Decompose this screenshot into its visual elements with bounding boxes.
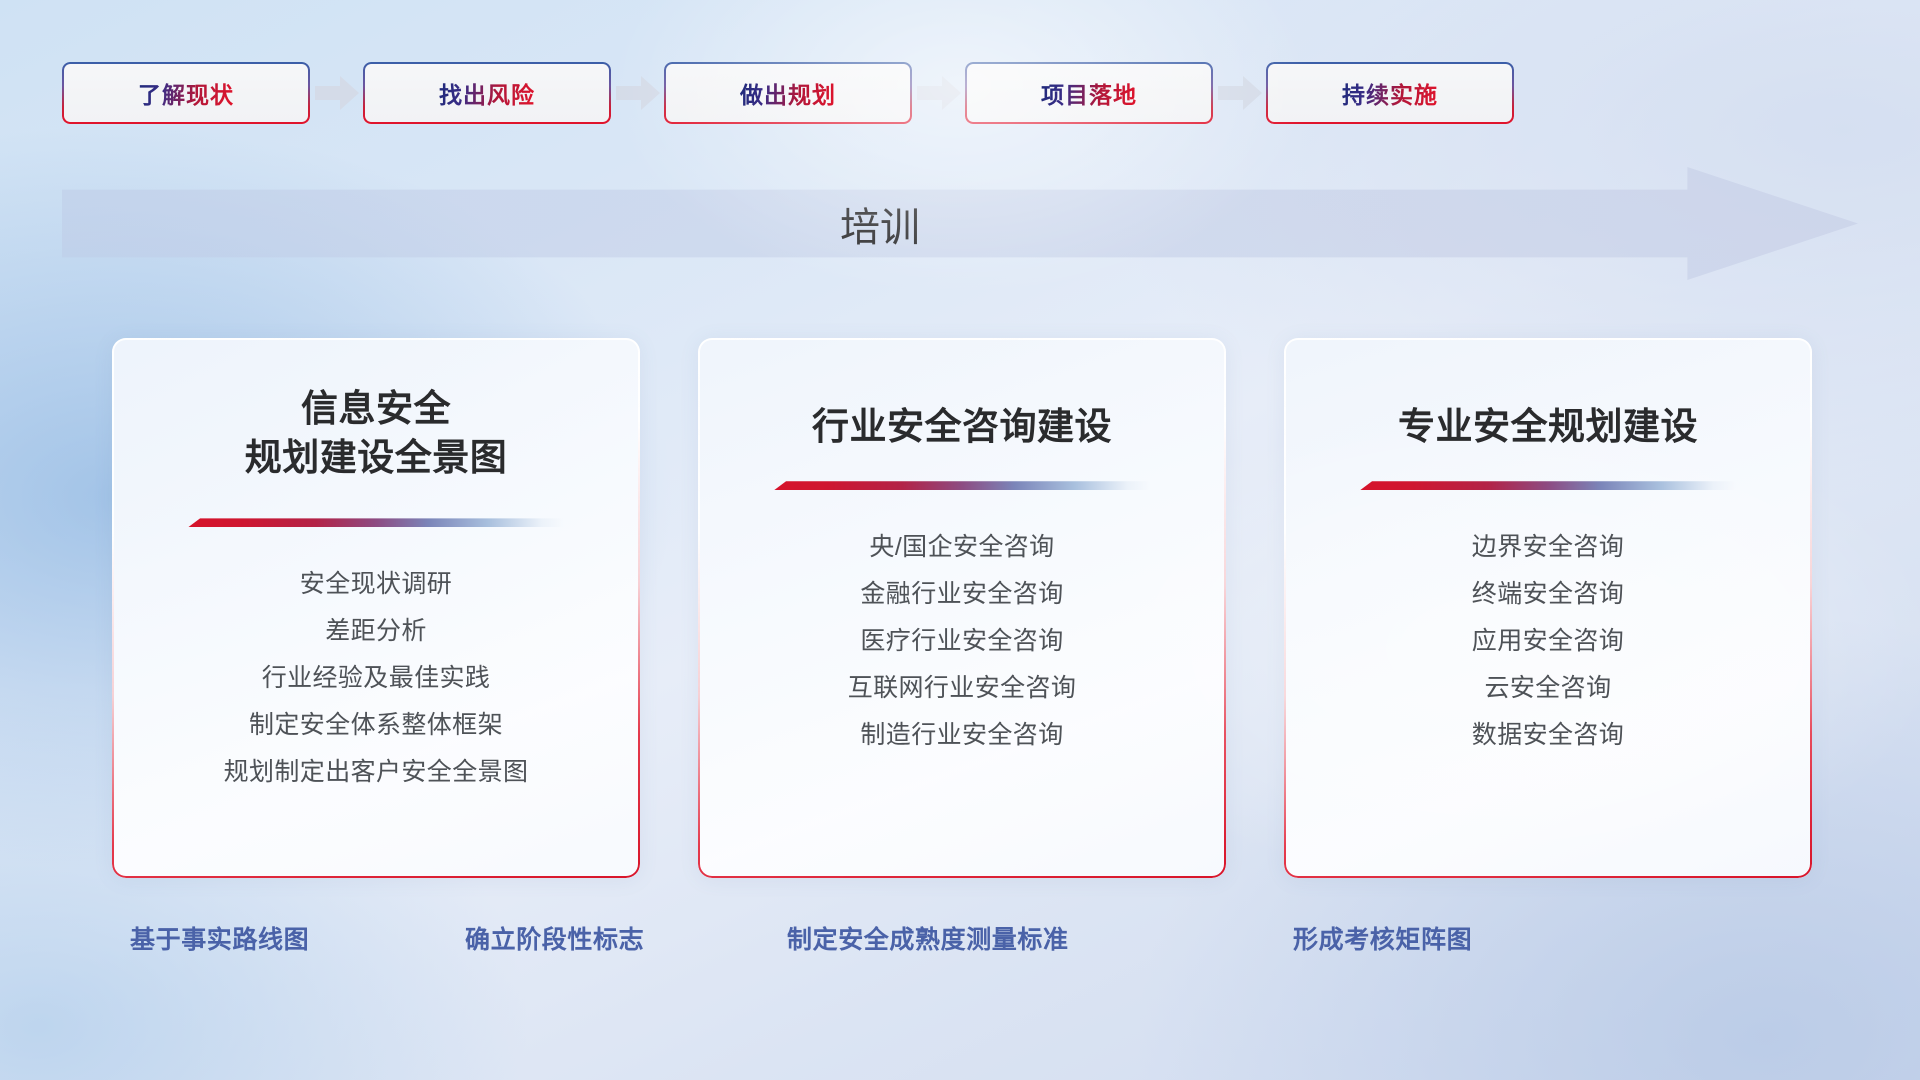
process-step-flow: 了解现状 找出风险 做出规划 项目落地 — [62, 62, 1858, 124]
card-title: 专业安全规划建设 — [1398, 402, 1698, 451]
footer-label: 基于事实路线图 — [130, 920, 309, 956]
process-step-label: 做出规划 — [740, 76, 836, 110]
list-item: 规划制定出客户安全全景图 — [138, 749, 614, 796]
list-item: 终端安全咨询 — [1310, 571, 1786, 618]
slide-canvas: 了解现状 找出风险 做出规划 项目落地 — [0, 0, 1920, 1080]
card-industry-security-consulting[interactable]: 行业安全咨询建设 央/国企安全咨询 金融行业安全咨询 医疗行业安全咨询 互联网行… — [698, 338, 1226, 878]
list-item: 边界安全咨询 — [1310, 524, 1786, 571]
arrow-right-icon — [310, 73, 363, 113]
footer-label: 形成考核矩阵图 — [1293, 920, 1472, 956]
training-banner: 培训 — [62, 167, 1858, 280]
process-step-label: 了解现状 — [138, 76, 234, 110]
process-step-3[interactable]: 做出规划 — [664, 62, 912, 124]
process-step-1[interactable]: 了解现状 — [62, 62, 310, 124]
arrow-right-icon — [1213, 73, 1266, 113]
card-group: 信息安全 规划建设全景图 安全现状调研 差距分析 行业经验及最佳实践 制定安全体… — [112, 338, 1812, 878]
list-item: 行业经验及最佳实践 — [138, 655, 614, 702]
card-divider — [1360, 481, 1736, 490]
card-item-list: 央/国企安全咨询 金融行业安全咨询 医疗行业安全咨询 互联网行业安全咨询 制造行… — [724, 524, 1200, 759]
list-item: 应用安全咨询 — [1310, 618, 1786, 665]
card-title-line-1: 专业安全规划建设 — [1398, 402, 1698, 451]
process-step-2[interactable]: 找出风险 — [363, 62, 611, 124]
card-divider — [188, 518, 564, 527]
card-title: 行业安全咨询建设 — [812, 402, 1112, 451]
process-step-5[interactable]: 持续实施 — [1266, 62, 1514, 124]
card-title: 信息安全 规划建设全景图 — [245, 384, 508, 482]
card-title-line-2: 规划建设全景图 — [245, 433, 508, 482]
list-item: 制造行业安全咨询 — [724, 712, 1200, 759]
list-item: 金融行业安全咨询 — [724, 571, 1200, 618]
list-item: 医疗行业安全咨询 — [724, 618, 1200, 665]
process-step-label: 项目落地 — [1041, 76, 1137, 110]
banner-title: 培训 — [62, 195, 1858, 253]
list-item: 互联网行业安全咨询 — [724, 665, 1200, 712]
list-item: 制定安全体系整体框架 — [138, 702, 614, 749]
footer-label: 确立阶段性标志 — [465, 920, 644, 956]
card-information-security-blueprint[interactable]: 信息安全 规划建设全景图 安全现状调研 差距分析 行业经验及最佳实践 制定安全体… — [112, 338, 640, 878]
process-step-label: 持续实施 — [1342, 76, 1438, 110]
card-title-line-1: 行业安全咨询建设 — [812, 402, 1112, 451]
card-item-list: 安全现状调研 差距分析 行业经验及最佳实践 制定安全体系整体框架 规划制定出客户… — [138, 561, 614, 796]
card-professional-security-planning[interactable]: 专业安全规划建设 边界安全咨询 终端安全咨询 应用安全咨询 云安全咨询 数据安全… — [1284, 338, 1812, 878]
card-title-line-1: 信息安全 — [245, 384, 508, 433]
list-item: 安全现状调研 — [138, 561, 614, 608]
footer-label: 制定安全成熟度测量标准 — [787, 920, 1069, 956]
arrow-right-icon — [912, 73, 965, 113]
process-step-4[interactable]: 项目落地 — [965, 62, 1213, 124]
footer-label-row: 基于事实路线图 确立阶段性标志 制定安全成熟度测量标准 形成考核矩阵图 — [0, 920, 1920, 970]
list-item: 央/国企安全咨询 — [724, 524, 1200, 571]
list-item: 差距分析 — [138, 608, 614, 655]
card-item-list: 边界安全咨询 终端安全咨询 应用安全咨询 云安全咨询 数据安全咨询 — [1310, 524, 1786, 759]
card-divider — [774, 481, 1150, 490]
list-item: 云安全咨询 — [1310, 665, 1786, 712]
list-item: 数据安全咨询 — [1310, 712, 1786, 759]
process-step-label: 找出风险 — [439, 76, 535, 110]
arrow-right-icon — [611, 73, 664, 113]
